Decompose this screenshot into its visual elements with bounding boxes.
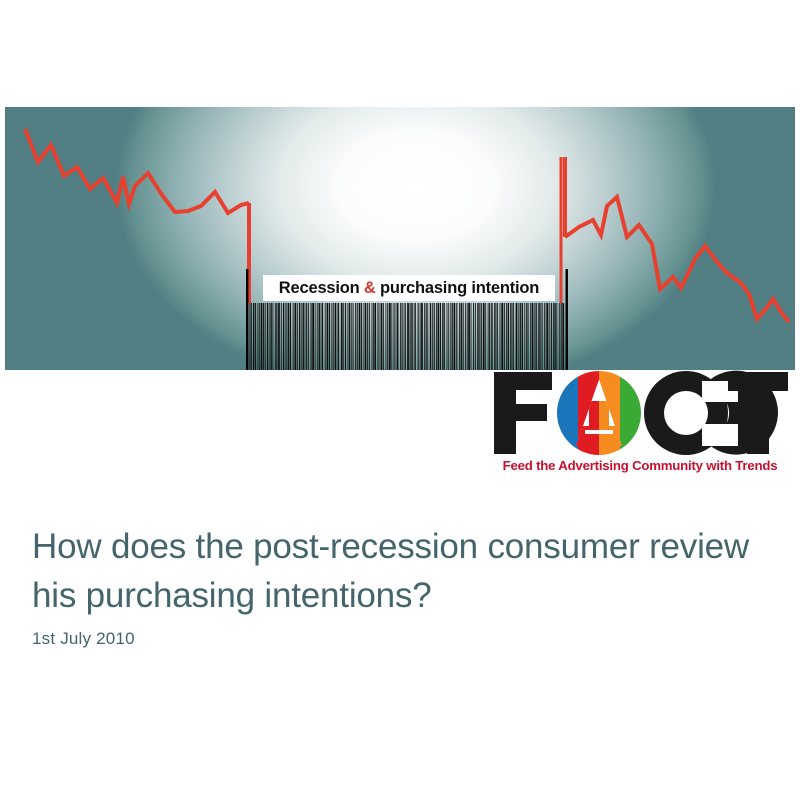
barcode-bar [265, 303, 266, 370]
barcode-bar [404, 303, 405, 370]
barcode-bar [424, 303, 425, 370]
barcode-bar [430, 303, 431, 370]
barcode-bar [386, 303, 387, 370]
barcode-bar [327, 303, 329, 370]
barcode-bar [349, 303, 350, 370]
barcode-bar [369, 303, 370, 370]
barcode-bar [381, 303, 382, 370]
barcode-bar [335, 303, 336, 370]
barcode-bar [355, 303, 356, 370]
barcode-bar [380, 303, 381, 370]
barcode-bar [331, 303, 332, 370]
barcode-bar [341, 303, 343, 370]
barcode-bar [438, 303, 440, 370]
barcode-bar [415, 303, 416, 370]
barcode-bar [364, 303, 365, 370]
barcode-bar [561, 303, 562, 370]
barcode-bar [311, 303, 312, 370]
barcode-bar [353, 303, 354, 370]
barcode-bar [255, 303, 256, 370]
barcode-bar [267, 303, 268, 370]
barcode-bar [396, 303, 397, 370]
barcode-bar [383, 303, 384, 370]
barcode-bar [258, 303, 259, 370]
barcode-bar [275, 303, 276, 370]
barcode-bar [508, 303, 509, 370]
barcode-label-text: Recession & purchasing intention [279, 279, 539, 298]
barcode-bar [278, 303, 280, 370]
barcode-bar [553, 303, 554, 370]
barcode-bar [491, 303, 492, 370]
barcode-bar [297, 303, 298, 370]
barcode-bar [407, 303, 409, 370]
recession-banner-image: Recession & purchasing intention [5, 107, 795, 370]
barcode-bar [299, 303, 300, 370]
barcode-bar [556, 303, 557, 370]
barcode-bar [495, 303, 496, 370]
barcode-bar [270, 303, 271, 370]
barcode-bar [477, 303, 478, 370]
barcode-bar [321, 303, 322, 370]
barcode-bar [536, 303, 537, 370]
barcode-bar [345, 303, 346, 370]
barcode-bar [286, 303, 287, 370]
barcode-bar [281, 303, 282, 370]
barcode-bar [338, 303, 339, 370]
barcode-bar [518, 303, 519, 370]
barcode-bar [540, 303, 541, 370]
barcode-bar [559, 303, 560, 370]
barcode-bar [436, 303, 437, 370]
barcode-bar [418, 303, 419, 370]
barcode-bar [285, 303, 286, 370]
barcode-bar [411, 303, 412, 370]
barcode-bar [479, 303, 480, 370]
barcode-bar [319, 303, 320, 370]
barcode-bar [261, 303, 263, 370]
barcode-bar [276, 303, 277, 370]
barcode-bar [532, 303, 534, 370]
logo-wedge-blue [557, 371, 578, 455]
barcode-bar [440, 303, 441, 370]
barcode-guard-bar [246, 269, 248, 370]
barcode-label-ampersand: & [364, 279, 376, 297]
barcode-bar [542, 303, 543, 370]
logo-wedge-green [620, 371, 641, 455]
barcode-bar [378, 303, 379, 370]
barcode-bar [325, 303, 326, 370]
barcode-bar [303, 303, 304, 370]
barcode-bar [504, 303, 505, 370]
barcode-bar [290, 303, 291, 370]
barcode-bar [348, 303, 349, 370]
barcode-bar [530, 303, 531, 370]
barcode-bar [374, 303, 376, 370]
trend-line-left-segment [25, 129, 249, 213]
barcode-bar [259, 303, 260, 370]
barcode-bar [522, 303, 523, 370]
barcode-bar [443, 303, 444, 370]
barcode-bar [288, 303, 289, 370]
barcode-bar [308, 303, 309, 370]
barcode-bar [526, 303, 527, 370]
barcode-bar [465, 303, 466, 370]
barcode-bar [329, 303, 330, 370]
trend-line-right-segment [565, 197, 789, 322]
barcode-bar [405, 303, 406, 370]
barcode-bar [333, 303, 334, 370]
barcode-bar [351, 303, 352, 370]
barcode-bar [410, 303, 411, 370]
barcode-bar [273, 303, 274, 370]
barcode-bar [494, 303, 495, 370]
barcode-bar [294, 303, 296, 370]
barcode-bar [400, 303, 401, 370]
barcode-bar [500, 303, 501, 370]
page-title: How does the post-recession consumer rev… [32, 522, 762, 620]
barcode-bar [315, 303, 316, 370]
barcode-bar [391, 303, 392, 370]
barcode-bar [421, 303, 423, 370]
barcode-bar [312, 303, 314, 370]
barcode-bar [488, 303, 489, 370]
barcode-bar [442, 303, 443, 370]
barcode-bar [506, 303, 507, 370]
barcode-guard-bar [566, 269, 568, 370]
barcode-bar [527, 303, 528, 370]
barcode-bar [337, 303, 338, 370]
barcode-bar [263, 303, 264, 370]
fact-logo: Feed the Advertising Community with Tren… [490, 368, 790, 478]
barcode-bar [402, 303, 403, 370]
barcode-label: Recession & purchasing intention [263, 275, 555, 301]
barcode-bar [305, 303, 306, 370]
barcode-bar [546, 303, 548, 370]
barcode-bar [448, 303, 449, 370]
barcode-bar [414, 303, 415, 370]
barcode-bar [456, 303, 457, 370]
barcode-bar [372, 303, 373, 370]
barcode-bar [434, 303, 435, 370]
barcode-bar [317, 303, 318, 370]
fact-tagline: Feed the Advertising Community with Tren… [490, 458, 790, 473]
barcode-bar [450, 303, 451, 370]
fact-wordmark [490, 368, 790, 458]
barcode-bar [551, 303, 552, 370]
barcode-bar [481, 303, 482, 370]
barcode-bar [454, 303, 456, 370]
barcode-bar [475, 303, 476, 370]
barcode-bar [389, 303, 391, 370]
barcode-graphic: Recession & purchasing intention [245, 269, 570, 370]
barcode-bar [253, 303, 254, 370]
barcode-bar [426, 303, 427, 370]
logo-letter-a [557, 371, 641, 455]
barcode-bar [501, 303, 503, 370]
barcode-bar [485, 303, 486, 370]
barcode-bar [420, 303, 421, 370]
barcode-bar [293, 303, 294, 370]
barcode-bar [524, 303, 525, 370]
presentation-date: 1st July 2010 [32, 629, 135, 649]
barcode-bar [510, 303, 511, 370]
barcode-bar [387, 303, 388, 370]
barcode-bar [322, 303, 323, 370]
barcode-bar [394, 303, 395, 370]
barcode-bar [511, 303, 512, 370]
barcode-bar [497, 303, 498, 370]
barcode-bar [373, 303, 374, 370]
barcode-bar [283, 303, 284, 370]
title-slide: Recession & purchasing intention [0, 0, 800, 800]
barcode-bar [489, 303, 490, 370]
barcode-bar [251, 303, 252, 370]
barcode-bar [359, 303, 361, 370]
barcode-bar [538, 303, 539, 370]
barcode-bar [471, 303, 472, 370]
barcode-bar [534, 303, 535, 370]
barcode-bar [483, 303, 485, 370]
barcode-bar [301, 303, 302, 370]
barcode-bar [544, 303, 545, 370]
barcode-bar [343, 303, 344, 370]
barcode-bar [463, 303, 464, 370]
barcode-bar [461, 303, 462, 370]
barcode-bar [562, 303, 564, 370]
barcode-bar [306, 303, 307, 370]
barcode-bar [269, 303, 270, 370]
barcode-bar [357, 303, 358, 370]
barcode-bar [554, 303, 555, 370]
barcode-bar [452, 303, 453, 370]
barcode-bar [365, 303, 366, 370]
logo-letter-f [494, 372, 552, 454]
barcode-bar [459, 303, 460, 370]
barcode-bar [397, 303, 398, 370]
barcode-bar [549, 303, 550, 370]
barcode-bar [427, 303, 428, 370]
barcode-bar [513, 303, 514, 370]
barcode-bar [367, 303, 368, 370]
barcode-bar [467, 303, 468, 370]
barcode-bar [249, 303, 250, 370]
barcode-bar [361, 303, 362, 370]
barcode-bar [432, 303, 433, 370]
barcode-bar [447, 303, 448, 370]
barcode-bar [516, 303, 518, 370]
barcode-bar [468, 303, 470, 370]
barcode-bar [520, 303, 521, 370]
barcode-bar [473, 303, 474, 370]
